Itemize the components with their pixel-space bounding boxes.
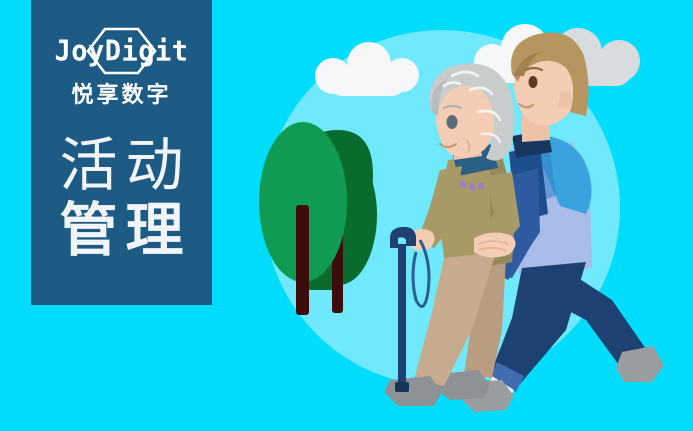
logo-mark: JoyDigit xyxy=(31,26,212,76)
young-man-eye xyxy=(529,76,538,88)
elderly-front-shoe xyxy=(384,376,442,406)
title-line-1: 活动 xyxy=(31,136,212,195)
cane-shaft xyxy=(398,244,406,390)
title-line-2: 管理 xyxy=(31,201,212,260)
poster-title: 活动 管理 xyxy=(31,136,212,260)
cane-tip xyxy=(395,382,409,392)
elderly-hand-right xyxy=(474,232,516,257)
brand-panel: JoyDigit 悦享数字 活动 管理 xyxy=(31,0,212,305)
logo-block: JoyDigit 悦享数字 xyxy=(31,26,212,106)
poster-canvas: JoyDigit 悦享数字 活动 管理 xyxy=(0,0,693,431)
logo-chinese-name: 悦享数字 xyxy=(31,84,212,106)
elderly-eye xyxy=(447,115,458,129)
logo-wordmark: JoyDigit xyxy=(31,25,212,77)
